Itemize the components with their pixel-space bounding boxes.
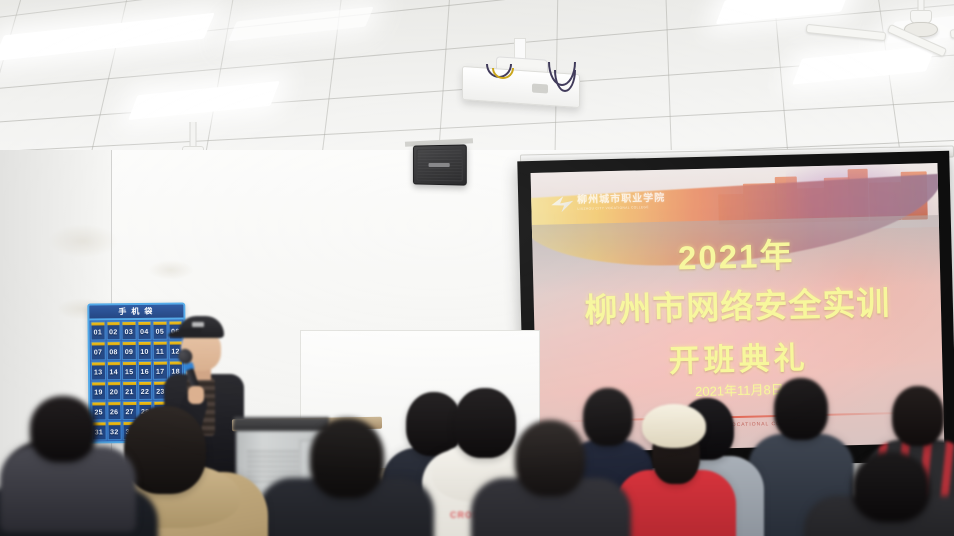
speaker-badge xyxy=(429,163,450,167)
phone-pocket: 10 xyxy=(137,341,152,360)
phone-pocket-number: 03 xyxy=(125,329,133,336)
phone-pocket-number: 16 xyxy=(140,368,148,375)
wall-speaker xyxy=(413,144,467,185)
phone-pocket: 07 xyxy=(91,341,106,360)
audience-member xyxy=(824,452,954,536)
slide-year-text: 2021年 xyxy=(532,225,940,283)
phone-board-char: 手 xyxy=(118,306,128,317)
phone-pocket: 16 xyxy=(137,361,152,380)
beret-hat xyxy=(642,404,706,448)
phone-pocket: 13 xyxy=(91,361,106,380)
phone-pocket-number: 15 xyxy=(125,369,133,376)
phone-pocket-number: 08 xyxy=(109,349,117,356)
audience-member xyxy=(286,418,406,536)
ceiling-fan xyxy=(846,0,954,50)
classroom-photo: 柳州城市职业学院 LIUZHOU CITY VOCATIONAL COLLEGE… xyxy=(0,0,954,536)
phone-pocket: 08 xyxy=(106,341,121,360)
phone-pocket-number: 19 xyxy=(94,389,102,396)
phone-pocket: 01 xyxy=(90,321,105,340)
phone-pocket-number: 04 xyxy=(140,328,148,335)
ceiling-projector xyxy=(462,56,580,104)
phone-pocket-number: 21 xyxy=(125,389,133,396)
presenter-cap xyxy=(178,316,224,338)
wall-mark xyxy=(148,260,194,280)
phone-pocket: 15 xyxy=(122,361,137,380)
phone-pocket: 04 xyxy=(137,321,152,340)
phone-pocket: 22 xyxy=(138,381,153,400)
audience-member xyxy=(18,396,114,486)
presenter-hand xyxy=(188,386,204,404)
phone-pocket-number: 02 xyxy=(109,329,117,336)
phone-pocket-number: 20 xyxy=(110,389,118,396)
phone-pocket-number: 09 xyxy=(125,349,133,356)
phone-pocket-number: 10 xyxy=(140,348,148,355)
phone-board-char: 袋 xyxy=(144,306,154,317)
projector-lens xyxy=(532,83,548,93)
college-logo: 柳州城市职业学院 LIUZHOU CITY VOCATIONAL COLLEGE xyxy=(551,194,665,213)
phone-pocket: 03 xyxy=(121,321,136,340)
audience-member xyxy=(495,420,605,536)
phone-pocket-number: 22 xyxy=(141,388,149,395)
phone-pocket-number: 14 xyxy=(110,369,118,376)
logo-chinese-name: 柳州城市职业学院 xyxy=(577,194,665,206)
phone-pocket: 21 xyxy=(122,381,137,400)
phone-pocket: 14 xyxy=(106,361,121,380)
wall-mark xyxy=(48,224,118,258)
phone-pocket-number: 01 xyxy=(94,329,102,336)
phone-board-char: 机 xyxy=(131,306,141,317)
logo-swoosh-icon xyxy=(551,196,573,213)
phone-pocket-number: 13 xyxy=(94,369,102,376)
phone-pocket-number: 07 xyxy=(94,349,102,356)
audience-member xyxy=(632,408,724,536)
phone-pocket: 09 xyxy=(122,341,137,360)
slide-main-title: 柳州市网络安全实训 xyxy=(533,275,941,333)
phone-pocket: 02 xyxy=(106,321,121,340)
